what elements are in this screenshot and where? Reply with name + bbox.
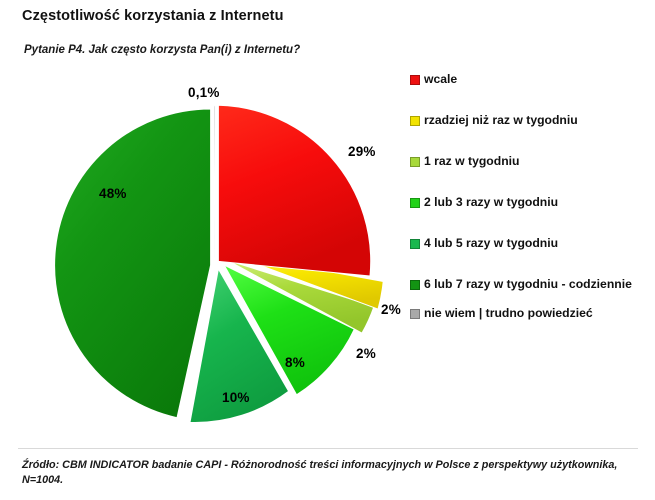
data-label-codziennie: 48% [99,186,127,201]
legend-swatch-icon [410,239,420,249]
data-label-dwa-trzy: 8% [285,355,305,370]
legend-item-raz[interactable]: 1 raz w tygodniu [410,154,652,169]
legend-item-dwa-trzy[interactable]: 2 lub 3 razy w tygodniu [410,195,652,210]
legend-swatch-icon [410,309,420,319]
footer-divider [18,448,638,449]
legend-item-label: 2 lub 3 razy w tygodniu [424,195,558,210]
data-label-raz: 2% [356,346,376,361]
pie-slice-nie-wiem[interactable] [214,106,215,262]
pie-slice-codziennie[interactable] [55,109,211,418]
data-label-cztery-piec: 10% [222,390,250,405]
legend-swatch-icon [410,280,420,290]
legend-item-rzadziej[interactable]: rzadziej niż raz w tygodniu [410,113,652,128]
legend-item-label: 4 lub 5 razy w tygodniu [424,236,558,251]
legend-swatch-icon [410,198,420,208]
legend-item-wcale[interactable]: wcale [410,72,652,87]
legend-item-codziennie[interactable]: 6 lub 7 razy w tygodniu - codziennie [410,277,652,292]
legend-item-label: wcale [424,72,457,87]
chart-subtitle: Pytanie P4. Jak często korzysta Pan(i) z… [24,44,300,56]
pie-chart-plot-area: 0,1% 29% 2% 2% 8% 10% 48% [0,80,400,440]
legend-item-nie-wiem[interactable]: nie wiem | trudno powiedzieć [410,306,652,321]
pie-chart-svg [0,80,400,440]
legend-item-cztery-piec[interactable]: 4 lub 5 razy w tygodniu [410,236,652,251]
legend-item-label: 1 raz w tygodniu [424,154,519,169]
page-title: Częstotliwość korzystania z Internetu [22,8,284,24]
legend-item-label: 6 lub 7 razy w tygodniu - codziennie [424,277,632,292]
data-label-wcale: 29% [348,144,376,159]
legend-item-label: rzadziej niż raz w tygodniu [424,113,578,128]
legend-swatch-icon [410,157,420,167]
legend-item-label: nie wiem | trudno powiedzieć [424,306,593,321]
chart-legend: wcale rzadziej niż raz w tygodniu 1 raz … [410,72,652,335]
pie-slice-wcale[interactable] [218,105,370,276]
legend-swatch-icon [410,75,420,85]
legend-swatch-icon [410,116,420,126]
source-note: Źródło: CBM INDICATOR badanie CAPI - Róż… [22,458,632,488]
data-label-rzadziej: 2% [381,302,401,317]
data-label-nie-wiem: 0,1% [188,85,220,100]
